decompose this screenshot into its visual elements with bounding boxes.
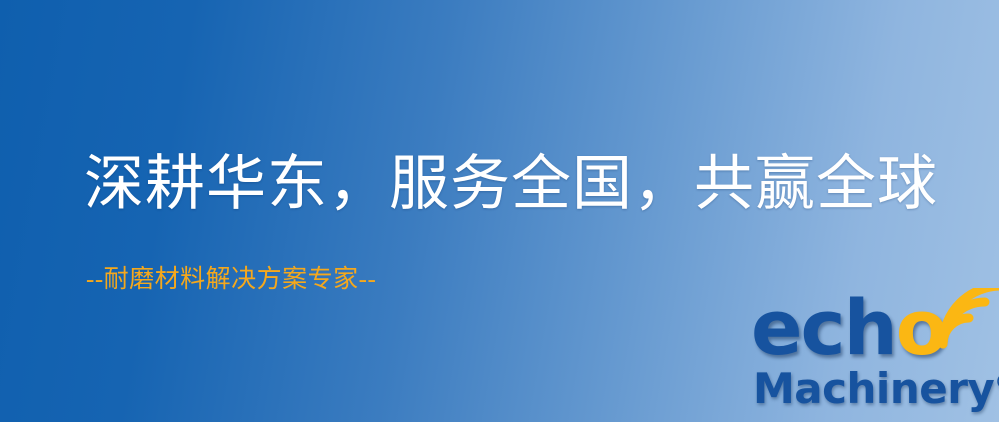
banner-headline: 深耕华东，服务全国，共赢全球 bbox=[84, 152, 938, 217]
registered-trademark-icon: ® bbox=[994, 370, 999, 394]
logo-wordmark-row: echo bbox=[743, 296, 999, 372]
logo-wordmark: echo bbox=[751, 290, 946, 366]
banner-subtitle: --耐磨材料解决方案专家-- bbox=[86, 266, 376, 294]
logo-wordmark-prefix: ech bbox=[751, 283, 896, 372]
echo-machinery-logo: echo Machinery® bbox=[743, 296, 999, 422]
logo-subtext: Machinery bbox=[753, 364, 994, 413]
signal-waves-icon bbox=[929, 288, 999, 354]
promo-banner: 深耕华东，服务全国，共赢全球 --耐磨材料解决方案专家-- echo Machi… bbox=[0, 0, 999, 422]
logo-subtext-row: Machinery® bbox=[753, 368, 999, 410]
